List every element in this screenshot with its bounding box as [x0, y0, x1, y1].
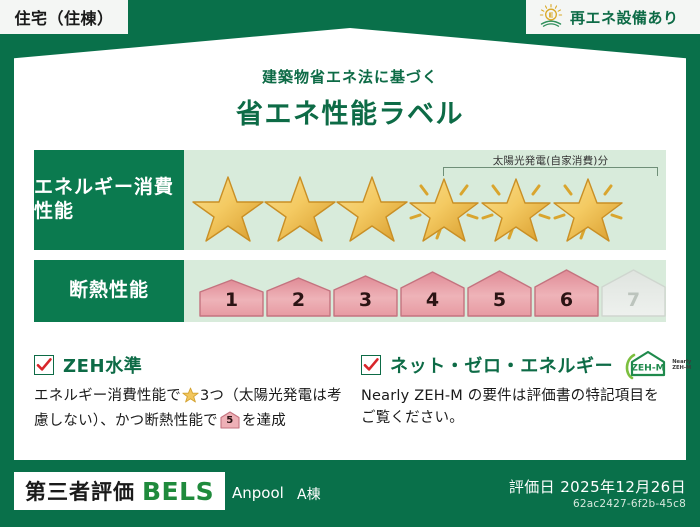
zehm-heading: ネット・ゼロ・エネルギー ZEH-M Nearly ZEH-M	[361, 352, 670, 378]
insulation-grade-badge: 2	[265, 277, 332, 317]
star-icon	[264, 168, 336, 244]
building-name: Anpool	[232, 484, 284, 502]
title-subtitle: 建築物省エネ法に基づく	[0, 66, 700, 87]
zeh-column: ZEH水準 エネルギー消費性能で3つ（太陽光発電は考慮しない）、かつ断熱性能で5…	[34, 352, 343, 433]
grade-number: 5	[220, 413, 240, 429]
insulation-performance-body: 1 2 3	[184, 260, 666, 322]
grade-number: 7	[600, 289, 667, 311]
evaluation-id: 62ac2427-6f2b-45c8	[573, 498, 686, 510]
bels-certification-mark: 第三者評価 BELS	[14, 472, 225, 510]
grade-number: 3	[332, 289, 399, 311]
insulation-grade-badge: 4	[399, 271, 466, 317]
building-unit: A棟	[297, 484, 321, 504]
title-block: 建築物省エネ法に基づく 省エネ性能ラベル	[0, 66, 700, 131]
insulation-grade-scale: 1 2 3	[198, 269, 667, 317]
zeh-m-sub-line1: Nearly	[672, 359, 691, 365]
page-title: 省エネ性能ラベル	[0, 92, 700, 131]
insulation-grade-badge: 1	[198, 279, 265, 317]
evaluation-date: 評価日 2025年12月26日	[509, 476, 686, 497]
svg-text:E: E	[548, 11, 553, 20]
star-icon	[192, 168, 264, 244]
insulation-grade-badge-inline: 5	[220, 411, 240, 429]
grade-number: 4	[399, 289, 466, 311]
grade-number: 1	[198, 289, 265, 311]
zeh-text-end: を達成	[242, 413, 286, 429]
sun-icon: E	[538, 3, 564, 31]
badge-dwelling-label: 住宅（住棟）	[14, 5, 113, 29]
bels-energy-label: 住宅（住棟） E 再エネ設備あり	[0, 0, 700, 527]
star-icon-solar	[480, 168, 552, 244]
row-insulation-performance: 断熱性能	[34, 260, 666, 322]
zeh-description: エネルギー消費性能で3つ（太陽光発電は考慮しない）、かつ断熱性能で5を達成	[34, 385, 343, 433]
zehm-description: Nearly ZEH-M の要件は評価書の特記項目をご覧ください。	[361, 385, 670, 430]
insulation-performance-label: 断熱性能	[34, 260, 184, 322]
star-icon-solar	[552, 168, 624, 244]
zeh-heading: ZEH水準	[34, 352, 343, 378]
bels-jp-label: 第三者評価	[25, 476, 135, 506]
zeh-m-logo-subtext: Nearly ZEH-M	[672, 359, 691, 372]
badge-renewable-label: 再エネ設備あり	[570, 7, 679, 28]
certification-info: ZEH水準 エネルギー消費性能で3つ（太陽光発電は考慮しない）、かつ断熱性能で5…	[34, 352, 670, 433]
grade-number: 6	[533, 289, 600, 311]
insulation-grade-badge: 3	[332, 275, 399, 317]
zeh-title: ZEH水準	[63, 352, 142, 378]
star-rating	[192, 164, 662, 248]
checkbox-checked-icon	[34, 355, 54, 375]
zehm-column: ネット・ゼロ・エネルギー ZEH-M Nearly ZEH-M Nearly Z…	[361, 352, 670, 433]
zeh-m-sub-line2: ZEH-M	[672, 365, 691, 371]
bels-en-label: BELS	[142, 477, 214, 506]
row-energy-performance: エネルギー消費性能 太陽光発電(自家消費)分	[34, 150, 666, 250]
svg-text:ZEH-M: ZEH-M	[631, 363, 665, 374]
insulation-grade-badge: 6	[533, 269, 600, 317]
insulation-grade-badge: 5	[466, 270, 533, 317]
zehm-title: ネット・ゼロ・エネルギー	[390, 352, 613, 378]
performance-rows: エネルギー消費性能 太陽光発電(自家消費)分	[34, 150, 666, 332]
energy-performance-body: 太陽光発電(自家消費)分	[184, 150, 666, 250]
badge-dwelling-type: 住宅（住棟）	[0, 0, 128, 34]
checkbox-checked-icon	[361, 355, 381, 375]
star-icon-solar	[408, 168, 480, 244]
energy-performance-label: エネルギー消費性能	[34, 150, 184, 250]
grade-number: 2	[265, 289, 332, 311]
footer: 第三者評価 BELS Anpool A棟 評価日 2025年12月26日 62a…	[0, 460, 700, 527]
zeh-text-before: エネルギー消費性能で	[34, 388, 181, 404]
badge-renewable-equipment: E 再エネ設備あり	[526, 0, 700, 34]
star-icon	[336, 168, 408, 244]
zeh-m-logo: ZEH-M Nearly ZEH-M	[624, 350, 691, 380]
star-icon-inline	[182, 387, 199, 410]
insulation-grade-badge-inactive: 7	[600, 269, 667, 317]
grade-number: 5	[466, 289, 533, 311]
